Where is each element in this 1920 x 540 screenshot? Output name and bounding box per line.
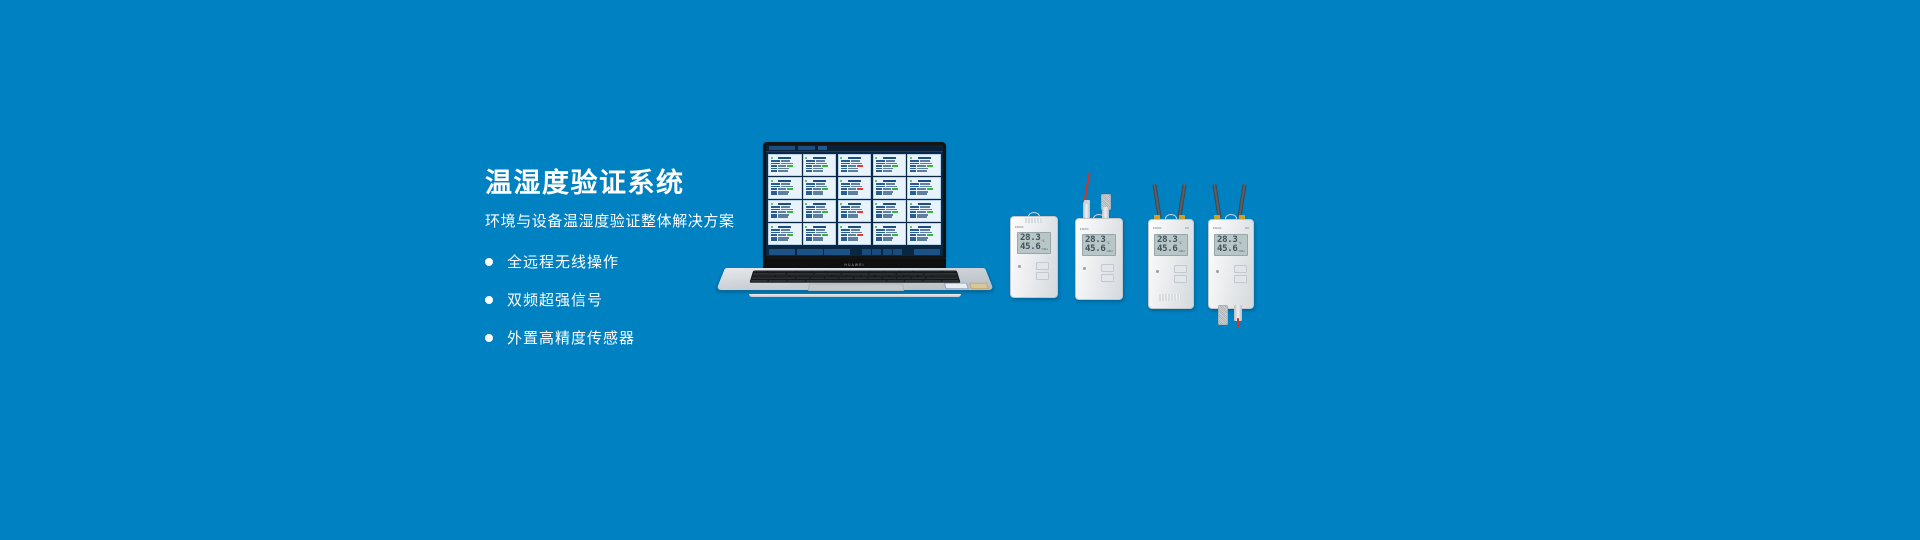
sensor-field-value — [848, 216, 858, 218]
sensor-card[interactable] — [838, 200, 872, 222]
sensor-card-row — [910, 209, 938, 211]
sensor-alarm-badge — [857, 188, 863, 190]
data-logger-compact: ENON 28.3 ℃ 45.6 %RH — [1010, 216, 1058, 298]
sensor-card-title — [918, 180, 931, 182]
sensor-card-row — [876, 183, 904, 185]
sensor-field-label — [876, 206, 885, 208]
sensor-card-title — [778, 203, 791, 205]
probe-connector — [1083, 202, 1090, 218]
sensor-card-row — [806, 163, 834, 165]
sensor-card-row — [771, 232, 799, 234]
sensor-field-label — [876, 168, 882, 170]
sensor-card-row — [876, 206, 904, 208]
sensor-card-row — [876, 234, 904, 236]
sensor-card-title — [778, 180, 791, 182]
lcd-humidity-row: 45.6 %RH — [1020, 243, 1048, 252]
sensor-card[interactable] — [803, 200, 837, 222]
sensor-card[interactable] — [873, 177, 907, 199]
sensor-card-row — [771, 237, 799, 239]
sensor-card-row — [876, 229, 904, 231]
sensor-card-row — [876, 170, 904, 172]
sensor-card-row — [876, 168, 904, 170]
sensor-card-row — [841, 211, 869, 213]
sensor-field-value — [848, 193, 858, 195]
lcd-humidity-row: 45.6 %RH — [1217, 245, 1245, 254]
sensor-card-title — [918, 226, 931, 228]
sensor-card-row — [806, 237, 834, 239]
sensor-card[interactable] — [907, 177, 941, 199]
sensor-card-row — [841, 206, 869, 208]
bullet-dot-icon — [485, 334, 493, 342]
sensor-card-row — [910, 168, 938, 170]
keyboard-key[interactable] — [787, 280, 805, 282]
sensor-field-value — [883, 239, 893, 241]
lcd-humidity-value: 45.6 — [1157, 245, 1177, 254]
sensor-card[interactable] — [803, 154, 837, 176]
sensor-card-title — [918, 157, 931, 159]
sensor-field-value — [886, 163, 898, 165]
sensor-field-value — [883, 188, 891, 190]
sensor-card[interactable] — [768, 223, 802, 245]
bullet-dot-icon — [485, 296, 493, 304]
sensor-field-value — [917, 193, 927, 195]
bullet-dot-icon — [485, 258, 493, 266]
toolbar-print-button[interactable] — [797, 249, 823, 255]
dashboard-tab-monitor[interactable] — [769, 146, 795, 149]
sensor-status-led — [910, 226, 912, 228]
sensor-card-row — [806, 209, 834, 211]
sensor-field-value — [778, 237, 789, 239]
sensor-field-label — [806, 211, 812, 213]
sensor-card-row — [771, 214, 799, 216]
sensor-card-row — [806, 165, 834, 167]
sensor-card[interactable] — [768, 177, 802, 199]
sensor-field-value — [813, 234, 821, 236]
device-brand-label: ENON — [1153, 227, 1162, 230]
sensor-normal-badge — [822, 211, 828, 213]
device-button-up[interactable] — [1036, 262, 1049, 270]
sensor-field-label — [876, 209, 885, 211]
keyboard-key[interactable] — [923, 280, 941, 282]
sensor-card-title — [883, 203, 896, 205]
sensor-field-label — [806, 160, 815, 162]
keyboard-key[interactable] — [942, 280, 960, 282]
sensor-field-value — [813, 239, 823, 241]
sensor-field-value — [883, 216, 893, 218]
sensor-field-value — [917, 216, 927, 218]
sensor-field-label — [771, 191, 777, 193]
sensor-card[interactable] — [907, 154, 941, 176]
laptop-brand-label: HUAWEI — [844, 263, 864, 267]
sensor-card-row — [876, 211, 904, 213]
sensor-field-value — [813, 188, 821, 190]
sensor-status-led — [875, 203, 877, 205]
sensor-field-value — [778, 191, 789, 193]
device-button-down[interactable] — [1101, 274, 1114, 282]
sensor-field-value — [778, 211, 786, 213]
sensor-field-value — [886, 209, 898, 211]
sensor-card[interactable] — [838, 154, 872, 176]
sensor-field-label — [841, 168, 847, 170]
sensor-card-row — [806, 211, 834, 213]
sensor-normal-badge — [892, 165, 898, 167]
pagination-prev-button[interactable] — [862, 249, 871, 255]
sensor-card-row — [806, 191, 834, 193]
sensor-field-label — [806, 170, 812, 172]
sensor-card-row — [806, 206, 834, 208]
sensor-normal-badge — [892, 188, 898, 190]
sensor-field-value — [851, 160, 860, 162]
sensor-field-value — [813, 211, 821, 213]
sensor-card-row — [910, 216, 938, 218]
sensor-field-value — [886, 206, 895, 208]
lcd-humidity-unit: %RH — [1041, 249, 1047, 252]
device-button-up[interactable] — [1234, 265, 1247, 273]
device-model-label: H8 — [1185, 227, 1189, 230]
sensor-status-led — [875, 226, 877, 228]
sensor-field-label — [841, 186, 850, 188]
sensor-card[interactable] — [907, 200, 941, 222]
sensor-status-led — [875, 180, 877, 182]
pagination-page-2[interactable] — [883, 249, 892, 255]
probe-cable — [1083, 172, 1090, 202]
keyboard-key[interactable] — [887, 280, 905, 282]
sensor-field-value — [816, 160, 825, 162]
laptop-keyboard[interactable] — [749, 270, 961, 282]
sensor-card-row — [910, 170, 938, 172]
device-button-up[interactable] — [1174, 265, 1187, 273]
sensor-field-label — [771, 183, 780, 185]
sensor-field-value — [883, 211, 891, 213]
sensor-card-row — [910, 183, 938, 185]
sensor-card[interactable] — [768, 154, 802, 176]
sensor-card-row — [841, 239, 869, 241]
sensor-field-label — [771, 237, 777, 239]
sensor-field-value — [781, 206, 790, 208]
sensor-card-row — [841, 165, 869, 167]
sensor-field-value — [816, 186, 828, 188]
sensor-field-label — [910, 163, 919, 165]
sensor-field-label — [806, 237, 812, 239]
sensor-status-led — [771, 180, 773, 182]
sensor-field-label — [876, 186, 885, 188]
device-brand-label: ENON — [1213, 227, 1222, 230]
antenna-right-icon — [1177, 184, 1186, 218]
keyboard-row — [750, 280, 959, 282]
sensor-field-value — [781, 160, 790, 162]
sensor-field-label — [910, 232, 919, 234]
keyboard-key[interactable] — [806, 280, 886, 282]
laptop-front-edge — [749, 294, 961, 297]
device-brand-row: ENON H8 — [1209, 227, 1253, 230]
device-button-down[interactable] — [1036, 272, 1049, 280]
device-button-down[interactable] — [1174, 275, 1187, 283]
sensor-field-label — [910, 214, 916, 216]
device-button-down[interactable] — [1234, 275, 1247, 283]
sensor-field-value — [883, 170, 893, 172]
sensor-field-label — [876, 160, 885, 162]
sensor-card-row — [771, 168, 799, 170]
sensor-card-row — [771, 188, 799, 190]
sensor-field-label — [910, 237, 916, 239]
sensor-field-value — [848, 234, 856, 236]
sensor-card-row — [876, 163, 904, 165]
sensor-field-label — [771, 206, 780, 208]
sensor-field-value — [920, 232, 932, 234]
sensor-field-label — [876, 214, 882, 216]
sensor-card[interactable] — [838, 177, 872, 199]
probe-cable — [1237, 318, 1239, 328]
sensor-field-value — [920, 206, 929, 208]
sensor-field-value — [778, 188, 786, 190]
sensor-field-label — [876, 237, 882, 239]
sensor-field-value — [883, 237, 894, 239]
keyboard-key[interactable] — [769, 280, 787, 282]
dashboard-tab-history[interactable] — [798, 146, 815, 149]
device-led-indicator — [1156, 270, 1159, 273]
sensor-card-row — [876, 216, 904, 218]
sensor-normal-badge — [787, 234, 793, 236]
sensor-field-label — [771, 168, 777, 170]
sensor-field-value — [778, 165, 786, 167]
sensor-card-title — [813, 180, 826, 182]
laptop-screen — [766, 145, 943, 256]
pagination-page-1[interactable] — [872, 249, 881, 255]
sensor-card-row — [806, 183, 834, 185]
sensor-field-value — [920, 183, 929, 185]
product-banner: 温湿度验证系统 环境与设备温湿度验证整体解决方案 全远程无线操作 双频超强信号 … — [0, 0, 1920, 540]
sensor-field-value — [781, 232, 793, 234]
sensor-field-label — [876, 193, 882, 195]
sensor-field-value — [917, 211, 925, 213]
sensor-field-value — [883, 234, 891, 236]
toolbar-settings-button[interactable] — [914, 249, 940, 255]
sensor-field-label — [806, 214, 812, 216]
sensor-status-led — [771, 203, 773, 205]
sensor-card-row — [841, 209, 869, 211]
device-brand-row: ENON H8 — [1149, 227, 1193, 230]
sensor-card-row — [841, 188, 869, 190]
lcd-humidity-row: 45.6 %RH — [1157, 245, 1185, 254]
toolbar-export-button[interactable] — [824, 249, 850, 255]
sensor-normal-badge — [787, 211, 793, 213]
sensor-card-row — [910, 163, 938, 165]
sensor-field-value — [781, 229, 790, 231]
sensor-card[interactable] — [803, 223, 837, 245]
dashboard-toolbar — [766, 247, 943, 256]
sensor-card[interactable] — [803, 177, 837, 199]
sensor-status-led — [910, 203, 912, 205]
sensor-card-title — [848, 157, 861, 159]
sensor-card-row — [771, 209, 799, 211]
sensor-card[interactable] — [768, 200, 802, 222]
sensor-field-value — [813, 216, 823, 218]
laptop-sticker-brand — [969, 282, 989, 288]
sensor-field-label — [910, 168, 916, 170]
sensor-field-value — [851, 183, 860, 185]
sensor-card-row — [910, 232, 938, 234]
sensor-field-value — [920, 209, 932, 211]
sensor-card-row — [771, 183, 799, 185]
sensor-field-label — [806, 168, 812, 170]
sensor-card-row — [876, 239, 904, 241]
keyboard-key[interactable] — [750, 280, 768, 282]
sensor-card-row — [910, 234, 938, 236]
antenna-left-icon — [1212, 184, 1221, 218]
sensor-field-label — [876, 234, 882, 236]
sensor-field-value — [813, 191, 824, 193]
sensor-card[interactable] — [838, 223, 872, 245]
sensor-card-row — [771, 211, 799, 213]
sensor-card-row — [771, 193, 799, 195]
laptop-device: HUAWEI — [721, 142, 989, 297]
sensor-card-row — [876, 165, 904, 167]
sensor-card[interactable] — [907, 223, 941, 245]
sensor-card-row — [910, 191, 938, 193]
device-brand-row: ENON — [1076, 228, 1122, 231]
sensor-field-label — [910, 165, 916, 167]
sensor-card-row — [771, 163, 799, 165]
sensor-normal-badge — [892, 234, 898, 236]
sensor-normal-badge — [927, 234, 933, 236]
sensor-alarm-badge — [857, 165, 863, 167]
sensor-field-label — [771, 239, 777, 241]
sensor-field-value — [778, 234, 786, 236]
sensor-card-row — [910, 188, 938, 190]
sensor-card-grid — [766, 152, 943, 247]
sensor-field-label — [910, 193, 916, 195]
sensor-field-label — [841, 209, 850, 211]
laptop-base — [721, 268, 989, 297]
sensor-field-label — [910, 206, 919, 208]
feature-label: 双频超强信号 — [507, 289, 603, 310]
sensor-field-label — [841, 232, 850, 234]
lcd-humidity-unit: %RH — [1238, 251, 1244, 254]
sensor-card[interactable] — [873, 200, 907, 222]
sensor-field-label — [771, 209, 780, 211]
sensor-field-label — [876, 229, 885, 231]
sensor-field-value — [851, 209, 863, 211]
device-brand-label: ENON — [1080, 228, 1089, 231]
sensor-field-label — [771, 170, 777, 172]
sensor-field-value — [813, 165, 821, 167]
sensor-field-label — [771, 214, 777, 216]
sensor-field-label — [876, 191, 882, 193]
antenna-left-icon — [1152, 184, 1161, 218]
sensor-card-row — [771, 234, 799, 236]
sensor-field-label — [910, 160, 919, 162]
sensor-card-row — [910, 237, 938, 239]
sensor-card-title — [883, 226, 896, 228]
sensor-field-value — [778, 170, 788, 172]
sensor-card[interactable] — [873, 154, 907, 176]
sensor-card-row — [771, 229, 799, 231]
sensor-field-value — [886, 232, 898, 234]
sensor-field-label — [841, 170, 847, 172]
sensor-field-label — [841, 211, 847, 213]
lcd-humidity-value: 45.6 — [1020, 243, 1040, 252]
sensor-field-value — [848, 211, 856, 213]
laptop-lid — [763, 142, 946, 259]
sensor-card-row — [841, 229, 869, 231]
sensor-field-label — [876, 211, 882, 213]
sensor-card-row — [841, 186, 869, 188]
sensor-card-row — [806, 216, 834, 218]
sensor-card-row — [806, 186, 834, 188]
lcd-humidity-unit: %RH — [1178, 251, 1184, 254]
sensor-field-label — [806, 186, 815, 188]
device-lcd-display: 28.3 ℃ 45.6 %RH — [1017, 232, 1051, 254]
sensor-card-row — [806, 239, 834, 241]
sensor-field-label — [771, 160, 780, 162]
sensor-card-row — [876, 232, 904, 234]
sensor-field-value — [848, 214, 859, 216]
sensor-card-row — [806, 214, 834, 216]
sensor-card-row — [771, 239, 799, 241]
sensor-field-value — [920, 163, 932, 165]
sensor-card-title — [813, 157, 826, 159]
sensor-status-led — [910, 157, 912, 159]
device-group: ENON 28.3 ℃ 45.6 %RH — [1000, 170, 1260, 350]
sensor-field-label — [806, 234, 812, 236]
laptop-trackpad[interactable] — [808, 283, 905, 291]
sensor-field-value — [816, 209, 828, 211]
sensor-card-row — [841, 168, 869, 170]
pagination-next-button[interactable] — [893, 249, 902, 255]
sensor-field-label — [771, 186, 780, 188]
sensor-field-label — [910, 186, 919, 188]
laptop-deck — [716, 268, 994, 290]
device-led-indicator — [1216, 270, 1219, 273]
sensor-field-label — [910, 239, 916, 241]
sensor-card-title — [778, 157, 791, 159]
sensor-card-row — [876, 193, 904, 195]
sensor-card-row — [876, 186, 904, 188]
sensor-field-value — [848, 191, 859, 193]
lcd-humidity-unit: %RH — [1106, 251, 1112, 254]
device-button-up[interactable] — [1101, 264, 1114, 272]
sensor-field-label — [771, 193, 777, 195]
sensor-card-title — [883, 180, 896, 182]
sensor-card[interactable] — [873, 223, 907, 245]
keyboard-key[interactable] — [905, 280, 923, 282]
sensor-field-value — [813, 168, 824, 170]
sensor-field-value — [848, 170, 858, 172]
sensor-field-value — [883, 214, 894, 216]
sensor-field-label — [841, 183, 850, 185]
sensor-status-led — [805, 226, 807, 228]
sensor-field-label — [910, 211, 916, 213]
sensor-field-label — [876, 239, 882, 241]
sensor-field-value — [781, 163, 793, 165]
sensor-field-label — [771, 229, 780, 231]
dashboard-tab-alarm[interactable] — [818, 146, 827, 149]
sensor-field-value — [886, 229, 895, 231]
sensor-field-label — [806, 209, 815, 211]
sensor-card-row — [771, 186, 799, 188]
toolbar-refresh-button[interactable] — [769, 249, 795, 255]
sensor-field-label — [806, 206, 815, 208]
sensor-field-label — [841, 237, 847, 239]
vent-grille — [1025, 218, 1042, 223]
sensor-field-label — [771, 188, 777, 190]
sensor-card-row — [876, 214, 904, 216]
sensor-field-label — [806, 163, 815, 165]
device-led-indicator — [1083, 267, 1086, 270]
sensor-card-row — [910, 214, 938, 216]
sensor-card-row — [806, 193, 834, 195]
sensor-field-label — [806, 188, 812, 190]
